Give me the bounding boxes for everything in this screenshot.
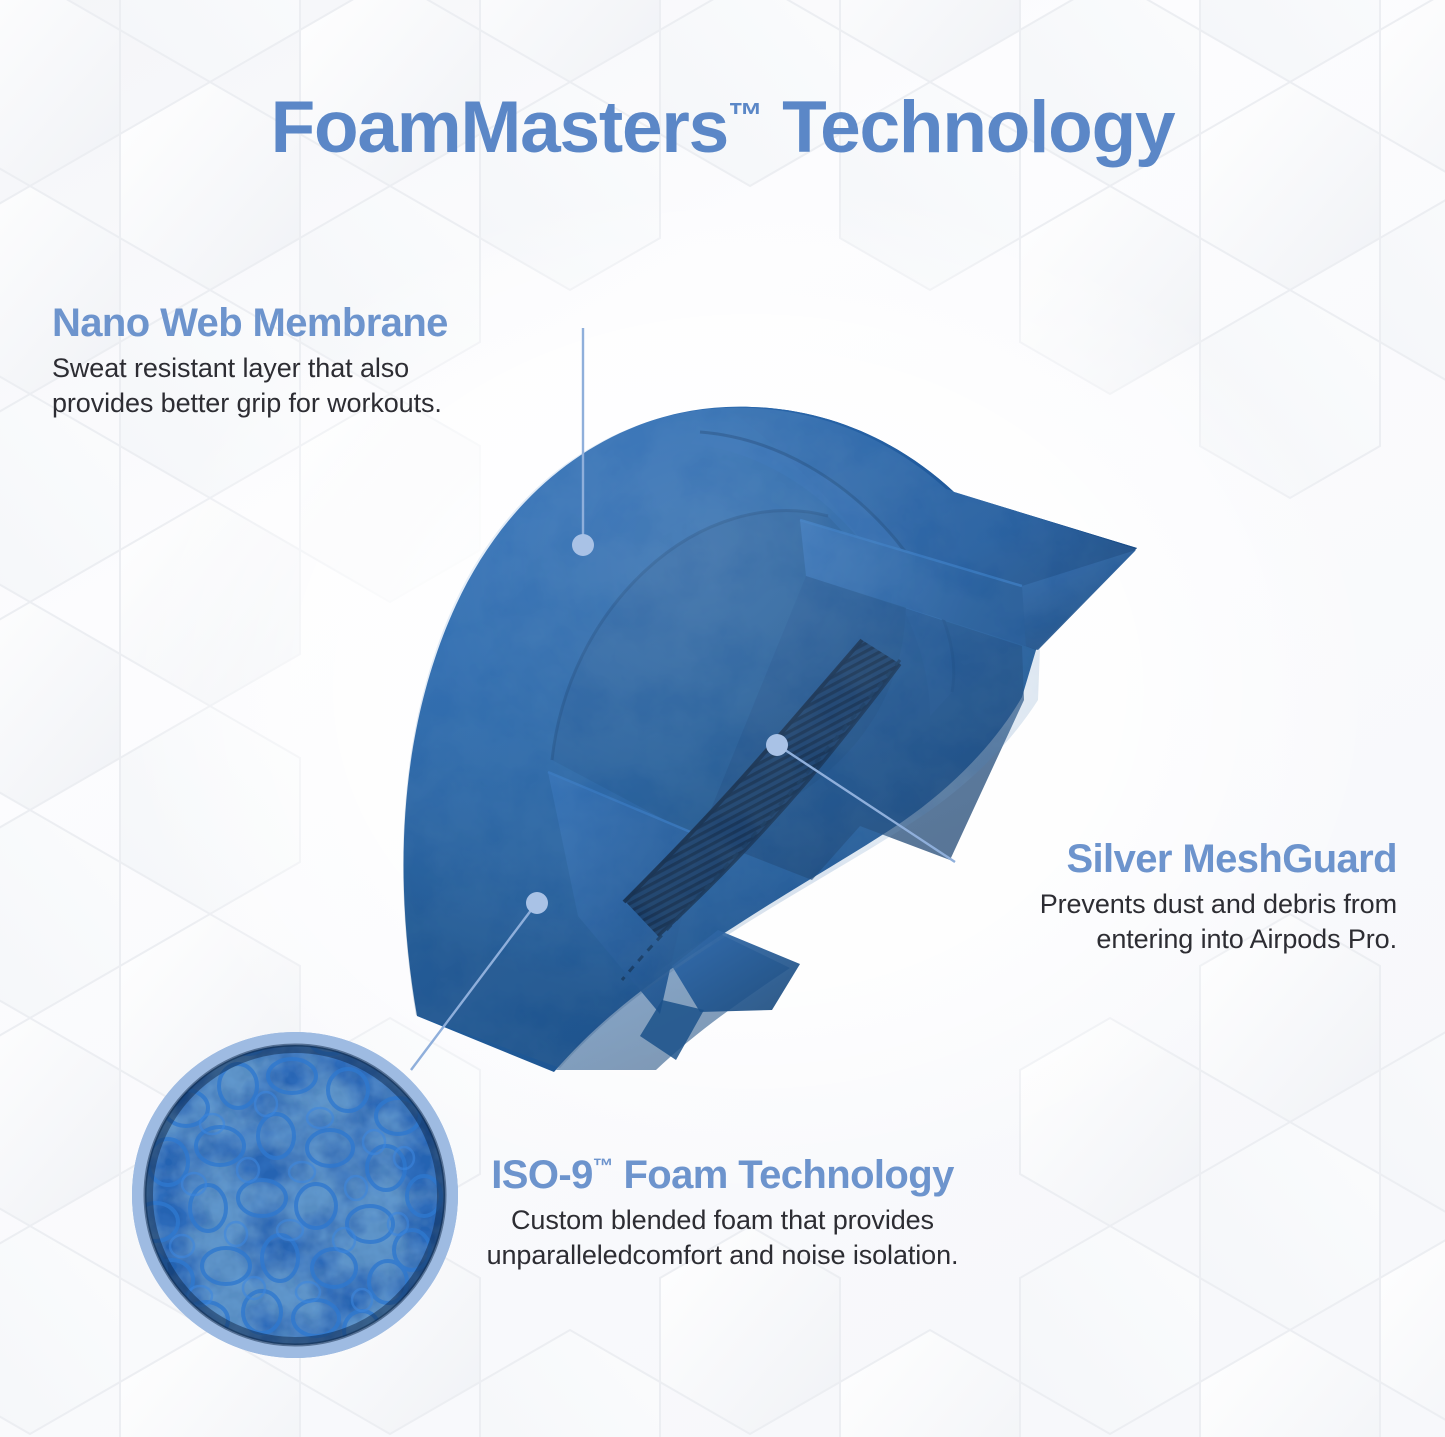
page-title-main: FoamMasters xyxy=(271,87,728,168)
callout-heading-iso-rest: Foam Technology xyxy=(613,1153,954,1197)
leader-line-iso xyxy=(411,905,535,1070)
callout-nano-web-membrane: Nano Web Membrane Sweat resistant layer … xyxy=(52,302,448,421)
callout-heading-iso: ISO-9™ Foam Technology xyxy=(0,1154,1445,1197)
callout-body-mesh-line1: Prevents dust and debris from xyxy=(1040,887,1397,922)
callout-body-nano: Sweat resistant layer that also provides… xyxy=(52,351,448,421)
callout-body-mesh: Prevents dust and debris from entering i… xyxy=(1040,887,1397,957)
callout-body-iso-line2: unparalleledcomfort and noise isolation. xyxy=(0,1238,1445,1273)
callout-heading-mesh: Silver MeshGuard xyxy=(1040,838,1397,881)
callout-body-nano-line2: provides better grip for workouts. xyxy=(52,386,448,421)
mesh-band xyxy=(624,640,900,936)
infographic-page: FoamMasters™ Technology xyxy=(0,0,1445,1437)
leader-dot-nano xyxy=(572,534,594,556)
leader-line-mesh xyxy=(779,746,955,862)
callout-body-mesh-line2: entering into Airpods Pro. xyxy=(1040,922,1397,957)
leader-dot-mesh xyxy=(766,734,788,756)
leader-dot-iso xyxy=(526,892,548,914)
trademark-symbol: ™ xyxy=(728,96,763,135)
callout-iso9-foam-technology: ISO-9™ Foam Technology Custom blended fo… xyxy=(0,1154,1445,1273)
callout-body-nano-line1: Sweat resistant layer that also xyxy=(52,351,448,386)
trademark-symbol-iso: ™ xyxy=(593,1155,613,1178)
callout-heading-nano: Nano Web Membrane xyxy=(52,302,448,345)
callout-body-iso: Custom blended foam that provides unpara… xyxy=(0,1203,1445,1273)
callout-heading-iso-main: ISO-9 xyxy=(491,1153,592,1197)
page-title-rest: Technology xyxy=(763,87,1174,168)
page-title: FoamMasters™ Technology xyxy=(0,86,1445,169)
callout-body-iso-line1: Custom blended foam that provides xyxy=(0,1203,1445,1238)
product-body xyxy=(380,380,1180,1100)
callout-silver-meshguard: Silver MeshGuard Prevents dust and debri… xyxy=(1040,838,1397,957)
